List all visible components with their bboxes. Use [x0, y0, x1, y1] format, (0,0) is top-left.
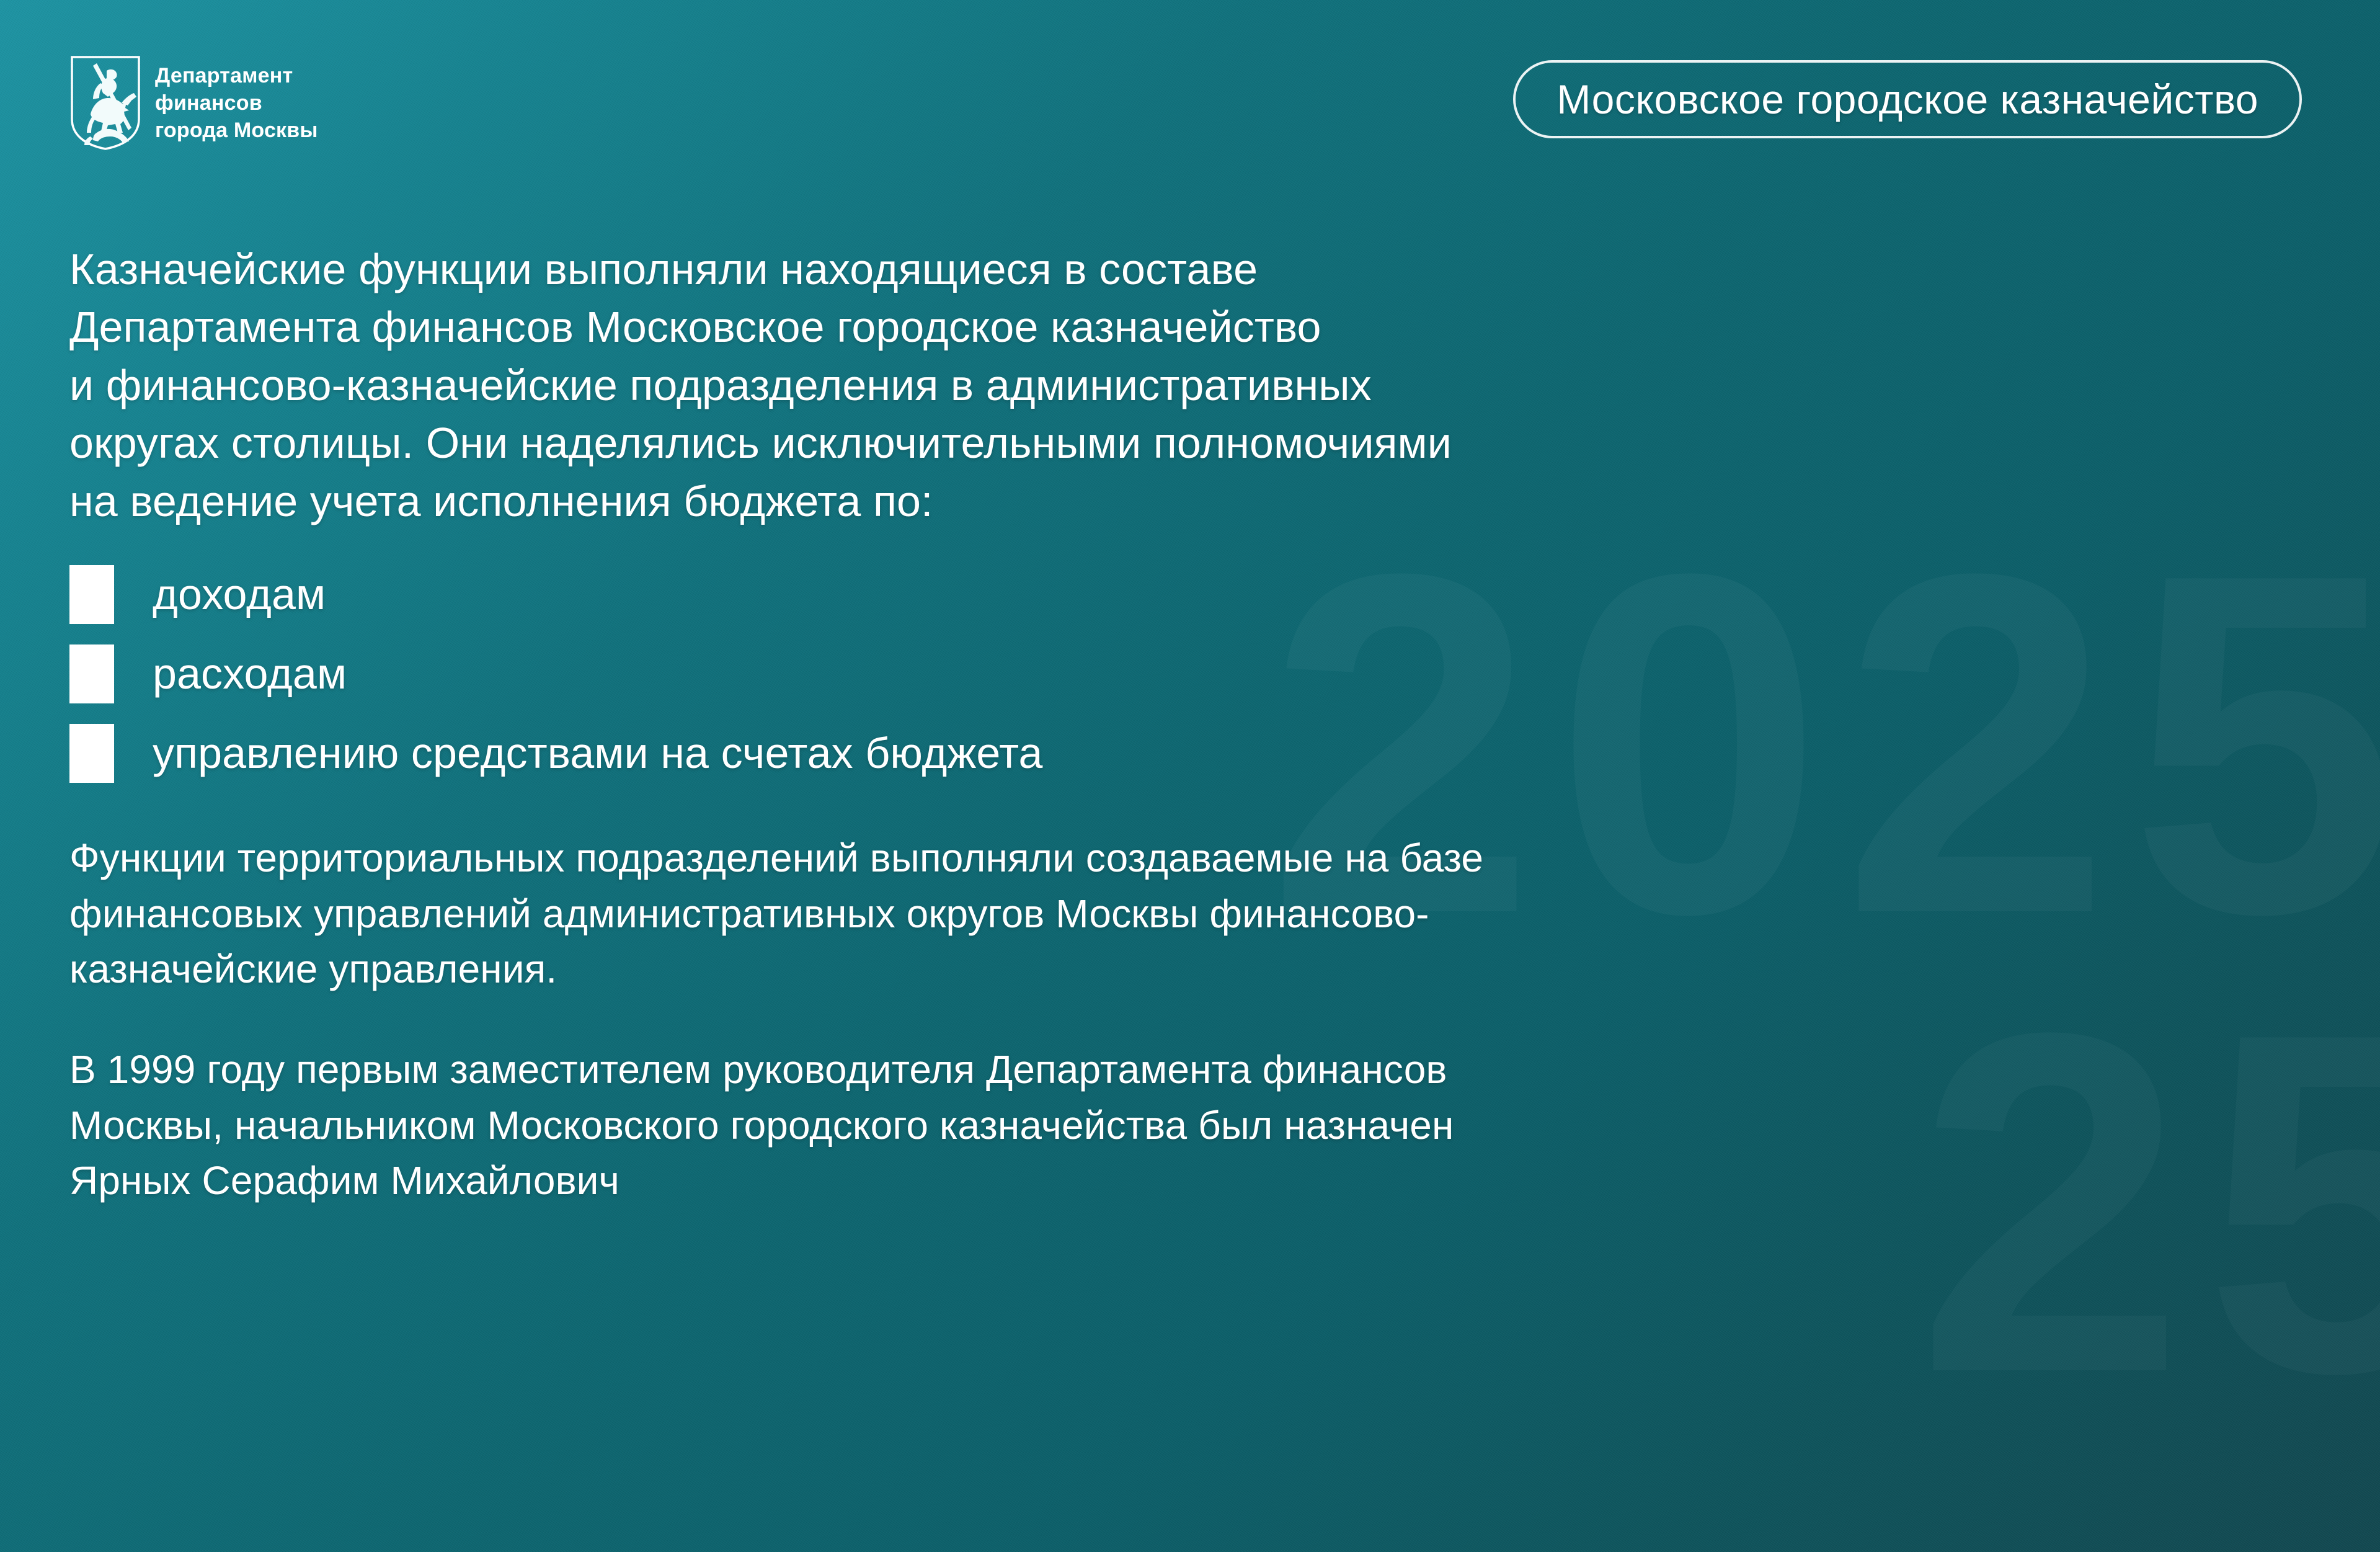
paragraph-3: В 1999 году первым заместителем руководи…: [69, 1042, 2287, 1209]
logo-line-3: города Москвы: [155, 117, 318, 144]
square-bullet-icon: [69, 724, 114, 783]
slide-title-label: Московское городское казначейство: [1556, 79, 2258, 120]
list-item: доходам: [69, 558, 2287, 631]
lead-line: и финансово-казначейские подразделения в…: [69, 357, 2287, 414]
list-item: расходам: [69, 637, 2287, 710]
paragraph-2-line: финансовых управлений административных о…: [69, 886, 2287, 942]
paragraph-2-line: казначейские управления.: [69, 942, 2287, 997]
presentation-slide: 2025 25: [0, 0, 2380, 1552]
lead-paragraph: Казначейские функции выполняли находящие…: [69, 241, 2287, 530]
list-item-label: управлению средствами на счетах бюджета: [153, 731, 1042, 775]
logo-line-1: Департамент: [155, 62, 318, 89]
slide-header: Департамент финансов города Москвы Моско…: [0, 0, 2380, 186]
lead-line: округах столицы. Они наделялись исключит…: [69, 414, 2287, 472]
paragraph-3-line: В 1999 году первым заместителем руководи…: [69, 1042, 2287, 1098]
paragraph-3-line: Ярных Серафим Михайлович: [69, 1153, 2287, 1209]
lead-line: на ведение учета исполнения бюджета по:: [69, 473, 2287, 530]
department-logo-text: Департамент финансов города Москвы: [155, 62, 318, 145]
department-logo: Департамент финансов города Москвы: [69, 55, 318, 151]
lead-line: Департамента финансов Московское городск…: [69, 298, 2287, 356]
logo-line-2: финансов: [155, 89, 318, 117]
list-item-label: доходам: [153, 573, 326, 616]
bullet-list: доходам расходам управлению средствами н…: [69, 558, 2287, 790]
slide-title-badge: Московское городское казначейство: [1513, 60, 2302, 138]
square-bullet-icon: [69, 565, 114, 624]
square-bullet-icon: [69, 644, 114, 703]
moscow-coat-of-arms-shield-icon: [69, 55, 141, 151]
paragraph-3-line: Москвы, начальником Московского городско…: [69, 1098, 2287, 1154]
list-item: управлению средствами на счетах бюджета: [69, 716, 2287, 790]
list-item-label: расходам: [153, 652, 347, 695]
paragraph-2-line: Функции территориальных подразделений вы…: [69, 831, 2287, 886]
slide-body: Казначейские функции выполняли находящие…: [69, 241, 2287, 1209]
paragraph-2: Функции территориальных подразделений вы…: [69, 831, 2287, 997]
lead-line: Казначейские функции выполняли находящие…: [69, 241, 2287, 298]
